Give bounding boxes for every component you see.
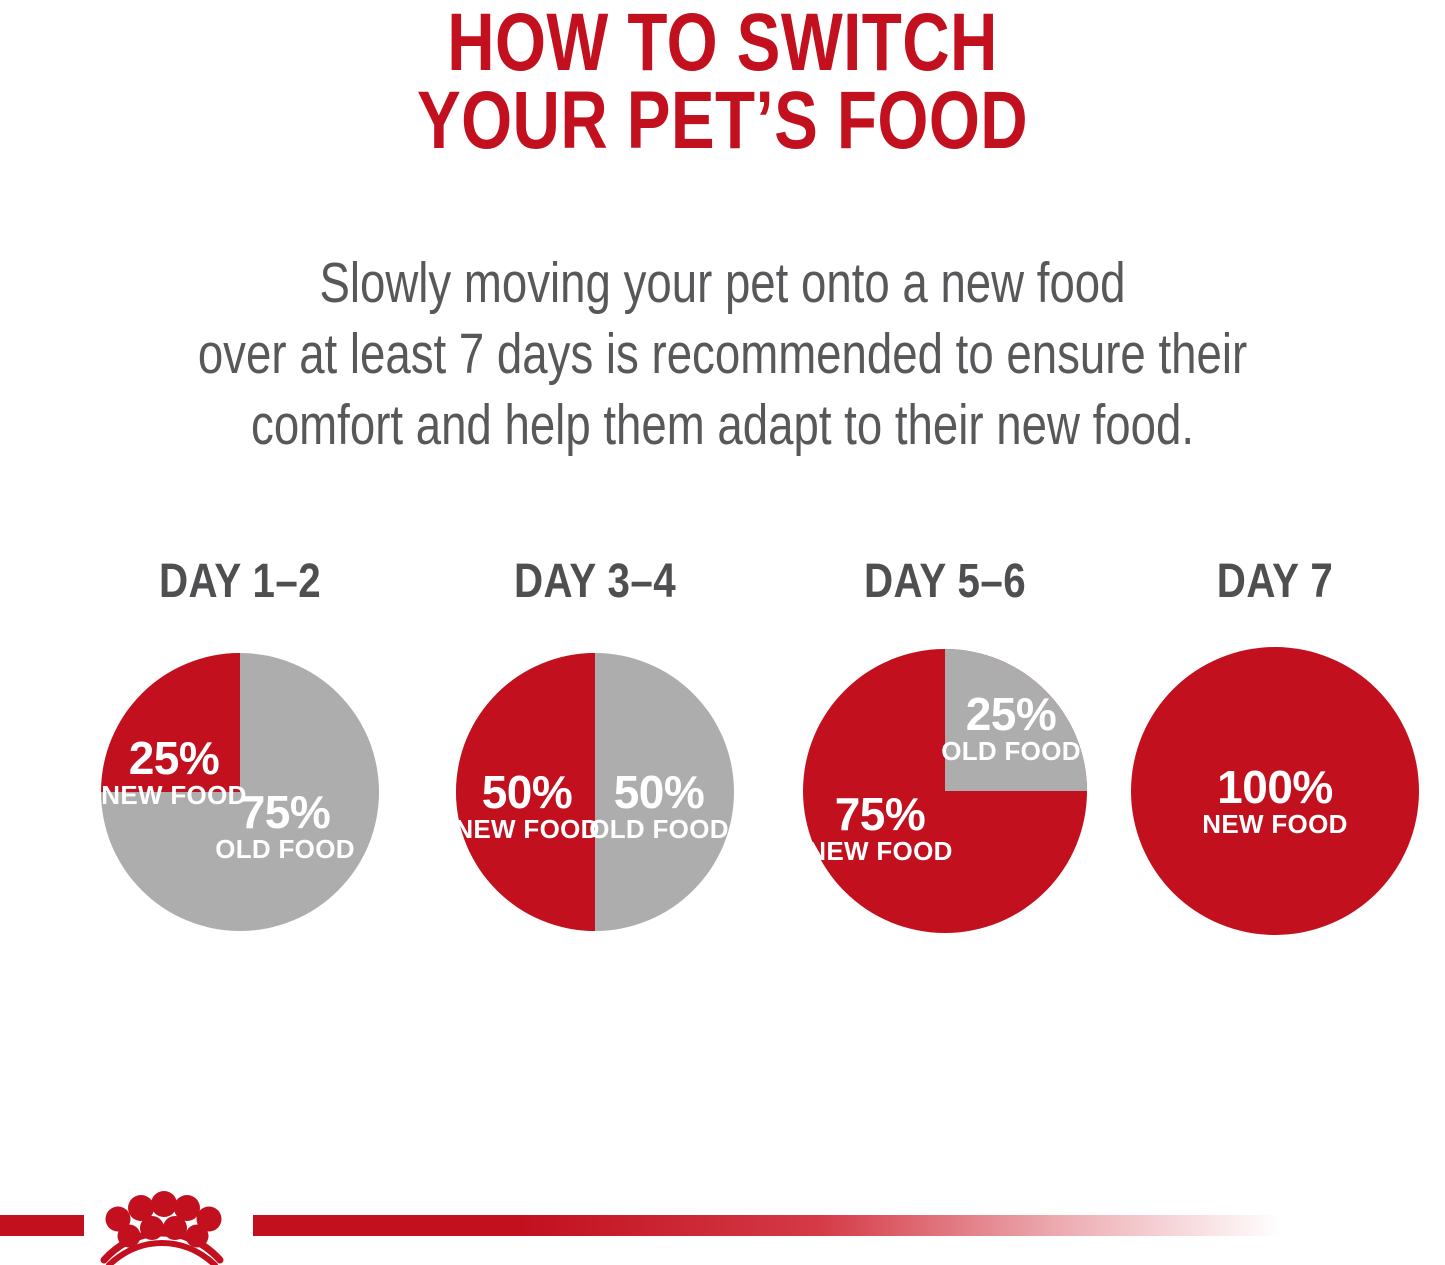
pie-graphic-day-3-4: 50% NEW FOOD 50% OLD FOOD: [455, 652, 735, 932]
slice-old-food-pct: 75%: [240, 786, 331, 838]
slice-new-food-label: NEW FOOD: [455, 814, 600, 844]
royal-canin-crown-icon: [96, 1186, 228, 1265]
pie-label-day-5-6: DAY 5–6: [823, 556, 1067, 608]
footer-rule-left: [0, 1215, 84, 1236]
page-title-line-1: HOW TO SWITCH: [145, 4, 1301, 82]
slice-new-food-pct: 100%: [1217, 761, 1333, 813]
pie-label-day-7: DAY 7: [1153, 556, 1397, 608]
pie-label-day-1-2: DAY 1–2: [122, 556, 357, 608]
pie-label-day-3-4: DAY 3–4: [477, 556, 712, 608]
intro-paragraph: Slowly moving your pet onto a new food o…: [145, 248, 1301, 461]
intro-line-2: over at least 7 days is recommended to e…: [145, 319, 1301, 390]
slice-new-food-pct: 50%: [482, 766, 573, 818]
intro-line-1: Slowly moving your pet onto a new food: [145, 248, 1301, 319]
pie-chart-day-5-6: DAY 5–6 25% OLD FOOD 75% NEW FOOD: [800, 556, 1090, 956]
slice-old-food-pct: 25%: [966, 688, 1057, 740]
footer-rule-right: [253, 1215, 1283, 1236]
slice-old-food-label: OLD FOOD: [941, 736, 1081, 766]
pie-chart-day-7: DAY 7 100% NEW FOOD: [1130, 556, 1420, 956]
pie-graphic-day-5-6: 25% OLD FOOD 75% NEW FOOD: [802, 648, 1088, 934]
pie-chart-day-1-2: DAY 1–2 25% NEW FOOD 75% OLD FOOD: [100, 556, 380, 956]
page-title-line-2: YOUR PET’S FOOD: [145, 82, 1301, 160]
slice-old-food-pct: 50%: [614, 766, 705, 818]
slice-new-food-pct: 25%: [129, 732, 220, 784]
slice-new-food-label: NEW FOOD: [101, 780, 246, 810]
slice-old-food-label: OLD FOOD: [215, 834, 355, 864]
pie-graphic-day-1-2: 25% NEW FOOD 75% OLD FOOD: [100, 652, 380, 932]
slice-new-food-label: NEW FOOD: [1202, 809, 1347, 839]
page-title: HOW TO SWITCH YOUR PET’S FOOD: [145, 4, 1301, 160]
intro-line-3: comfort and help them adapt to their new…: [145, 390, 1301, 461]
footer-brand-bar: [0, 1186, 1445, 1265]
pie-chart-day-3-4: DAY 3–4 50% NEW FOOD 50% OLD FOOD: [455, 556, 735, 956]
pie-graphic-day-7: 100% NEW FOOD: [1130, 646, 1420, 936]
slice-new-food-label: NEW FOOD: [807, 836, 952, 866]
pie-chart-row: DAY 1–2 25% NEW FOOD 75% OLD FOOD DAY 3–…: [0, 556, 1445, 976]
slice-new-food-pct: 75%: [835, 788, 926, 840]
slice-old-food-label: OLD FOOD: [589, 814, 729, 844]
